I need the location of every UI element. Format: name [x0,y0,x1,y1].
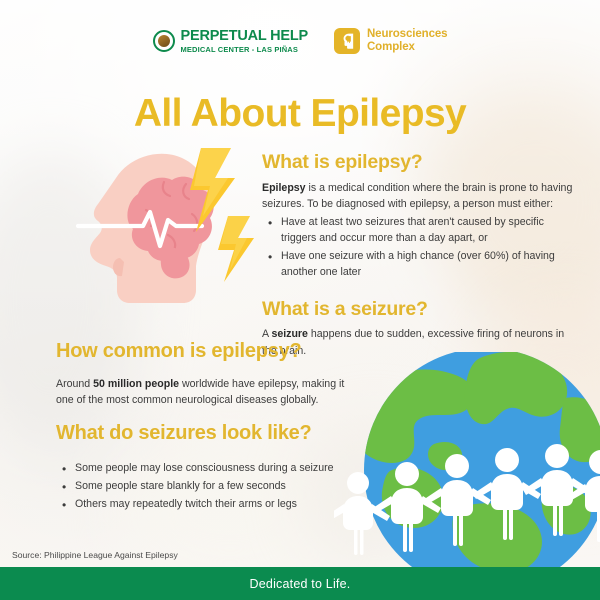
page-title: All About Epilepsy [0,92,600,136]
bullet-list-epilepsy-criteria: Have at least two seizures that aren't c… [262,215,574,281]
section-body-what-is-epilepsy: Epilepsy is a medical condition where th… [262,180,574,212]
globe-with-people-holding-hands-icon [334,352,600,574]
spacer [56,368,356,376]
section-body-pre: Around [56,378,93,390]
spacer [56,409,356,422]
section-body-how-common-is-epilepsy: Around 50 million people worldwide have … [56,376,356,408]
bold-term-50-million-people: 50 million people [93,378,179,390]
neurosciences-line2: Complex [367,41,448,54]
footer-tagline: Dedicated to Life. [250,577,351,591]
list-item: Have one seizure with a high chance (ove… [279,249,574,281]
list-item: Some people may lose consciousness durin… [73,461,356,477]
source-note: Source: Philippine League Against Epilep… [12,550,178,560]
right-content-column: What is epilepsy? Epilepsy is a medical … [262,152,574,359]
section-heading-how-common-is-epilepsy: How common is epilepsy? [56,340,356,362]
perpetual-help-logo-text: PERPETUAL HELP MEDICAL CENTER - LAS PIÑA… [181,29,308,53]
medical-seal-icon-inner [158,35,170,47]
bullet-list-seizure-signs: Some people may lose consciousness durin… [56,461,356,513]
head-with-brain-and-lightning-icon [60,140,260,315]
logo-row: PERPETUAL HELP MEDICAL CENTER - LAS PIÑA… [0,28,600,54]
neurosciences-line1: Neurosciences [367,28,448,41]
spacer [56,450,356,458]
perpetual-help-logo: PERPETUAL HELP MEDICAL CENTER - LAS PIÑA… [153,29,308,53]
section-heading-what-is-epilepsy: What is epilepsy? [262,152,574,174]
epilepsy-infographic: PERPETUAL HELP MEDICAL CENTER - LAS PIÑA… [0,0,600,600]
left-content-column: How common is epilepsy? Around 50 millio… [56,340,356,515]
head-brain-icon [334,28,360,54]
list-item: Have at least two seizures that aren't c… [279,215,574,247]
section-heading-what-do-seizures-look-like: What do seizures look like? [56,422,356,444]
neurosciences-complex-text: Neurosciences Complex [367,28,448,53]
medical-seal-icon [153,30,175,52]
perpetual-help-name: PERPETUAL HELP [181,29,308,44]
bold-term-epilepsy: Epilepsy [262,182,306,194]
section-heading-what-is-a-seizure: What is a seizure? [262,299,574,321]
bold-term-seizure: seizure [271,328,308,340]
neurosciences-complex-logo: Neurosciences Complex [334,28,448,54]
list-item: Some people stare blankly for a few seco… [73,479,356,495]
footer-bar: Dedicated to Life. [0,567,600,600]
section-body-rest: is a medical condition where the brain i… [262,182,572,210]
list-item: Others may repeatedly twitch their arms … [73,497,356,513]
perpetual-help-subtitle: MEDICAL CENTER - LAS PIÑAS [181,46,308,54]
spacer [262,283,574,299]
